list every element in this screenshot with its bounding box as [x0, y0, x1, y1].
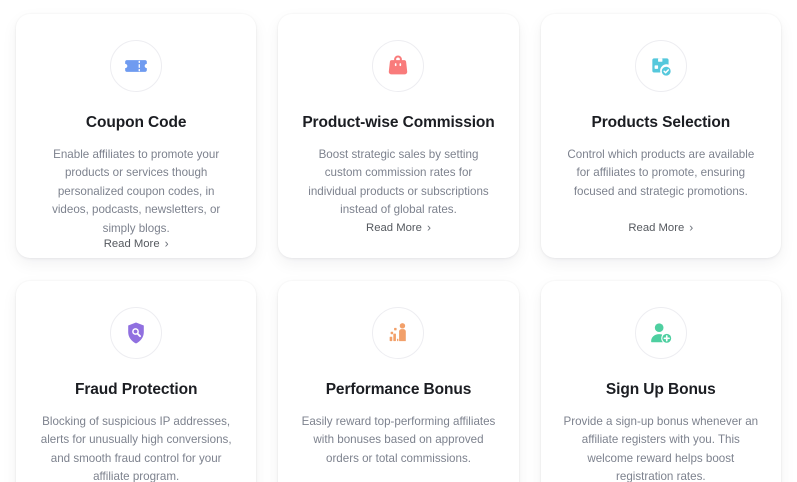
- card-description: Easily reward top-performing affiliates …: [300, 413, 496, 469]
- chevron-right-icon: ›: [689, 222, 693, 234]
- feature-card-sign-up-bonus[interactable]: Sign Up Bonus Provide a sign-up bonus wh…: [541, 281, 781, 482]
- card-description: Provide a sign-up bonus whenever an affi…: [563, 413, 759, 482]
- feature-card-fraud-protection[interactable]: Fraud Protection Blocking of suspicious …: [16, 281, 256, 482]
- shopping-bag-icon: [372, 40, 424, 92]
- read-more-label: Read More: [366, 222, 422, 234]
- card-description: Boost strategic sales by setting custom …: [300, 146, 496, 220]
- card-description: Enable affiliates to promote your produc…: [38, 146, 234, 239]
- chevron-right-icon: ›: [427, 222, 431, 234]
- card-description: Blocking of suspicious IP addresses, ale…: [38, 413, 234, 482]
- feature-card-grid: Coupon Code Enable affiliates to promote…: [0, 0, 797, 482]
- feature-card-coupon-code[interactable]: Coupon Code Enable affiliates to promote…: [16, 14, 256, 258]
- read-more-link[interactable]: Read More ›: [628, 222, 693, 234]
- card-title: Sign Up Bonus: [606, 381, 716, 400]
- card-title: Products Selection: [592, 114, 731, 133]
- feature-card-product-wise-commission[interactable]: Product-wise Commission Boost strategic …: [278, 14, 518, 258]
- card-title: Performance Bonus: [326, 381, 472, 400]
- user-plus-icon: [635, 307, 687, 359]
- coupon-ticket-icon: [110, 40, 162, 92]
- performance-chart-person-icon: [372, 307, 424, 359]
- shield-search-icon: [110, 307, 162, 359]
- card-description: Control which products are available for…: [563, 146, 759, 202]
- read-more-link[interactable]: Read More ›: [104, 238, 169, 250]
- read-more-link[interactable]: Read More ›: [366, 222, 431, 234]
- package-check-icon: [635, 40, 687, 92]
- read-more-label: Read More: [628, 222, 684, 234]
- card-title: Fraud Protection: [75, 381, 197, 400]
- read-more-label: Read More: [104, 238, 160, 250]
- feature-card-products-selection[interactable]: Products Selection Control which product…: [541, 14, 781, 258]
- card-title: Coupon Code: [86, 114, 187, 133]
- card-title: Product-wise Commission: [302, 114, 494, 133]
- feature-card-performance-bonus[interactable]: Performance Bonus Easily reward top-perf…: [278, 281, 518, 482]
- chevron-right-icon: ›: [165, 238, 169, 250]
